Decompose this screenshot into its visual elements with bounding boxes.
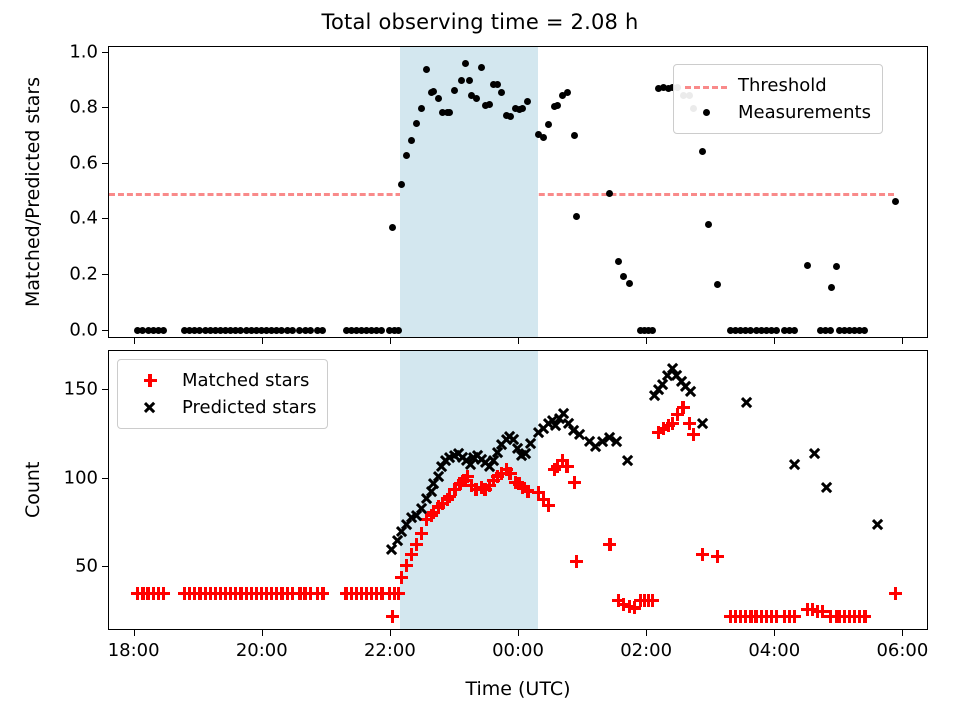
measurement-marker: [571, 132, 578, 139]
measurement-marker: [699, 148, 706, 155]
legend-label-matched-stars: Matched stars: [182, 370, 309, 391]
x-tick-mark: [390, 630, 391, 636]
matched-star-marker: [695, 547, 710, 562]
measurement-marker: [804, 262, 811, 269]
measurement-marker: [861, 327, 868, 334]
x-tick-label: 00:00: [492, 640, 544, 661]
matched-star-marker: [569, 554, 584, 569]
x-tick-mark: [518, 630, 519, 636]
predicted-star-marker: [609, 434, 624, 449]
predicted-star-marker: [695, 416, 710, 431]
x-tick-mark: [134, 338, 135, 344]
measurement-marker: [606, 190, 613, 197]
matched-star-marker: [567, 475, 582, 490]
top-panel-y-axis-label: Matched/Predicted stars: [22, 77, 44, 307]
measurement-marker: [408, 137, 415, 144]
y-tick-mark: [102, 107, 108, 108]
matched-star-marker: [315, 586, 330, 601]
y-tick-mark: [102, 478, 108, 479]
measurement-marker: [620, 273, 627, 280]
y-tick-mark: [102, 52, 108, 53]
y-tick-label: 0.2: [40, 264, 98, 285]
matched-star-marker: [645, 593, 660, 608]
predicted-star-marker: [683, 384, 698, 399]
legend-label-measurements: Measurements: [738, 102, 871, 123]
y-tick-mark: [102, 274, 108, 275]
measurement-marker: [540, 134, 547, 141]
legend-item-predicted-stars[interactable]: Predicted stars: [127, 394, 316, 421]
measurement-marker: [507, 113, 514, 120]
measurement-marker: [473, 95, 480, 102]
legend-item-measurements[interactable]: Measurements: [683, 99, 871, 126]
measurement-marker: [564, 89, 571, 96]
x-tick-label: 02:00: [620, 640, 672, 661]
measurement-marker: [649, 327, 656, 334]
measurement-dot-icon: [683, 102, 729, 124]
matched-star-marker: [560, 459, 575, 474]
plus-marker-icon: [127, 370, 173, 392]
measurement-marker: [435, 95, 442, 102]
x-tick-label: 20:00: [236, 640, 288, 661]
y-tick-mark: [102, 163, 108, 164]
matched-star-marker: [710, 549, 725, 564]
matched-star-marker: [391, 586, 406, 601]
y-tick-mark: [102, 389, 108, 390]
y-tick-label: 0.4: [40, 208, 98, 229]
x-tick-mark: [774, 630, 775, 636]
measurement-marker: [289, 327, 296, 334]
measurement-marker: [791, 327, 798, 334]
measurement-marker: [828, 284, 835, 291]
measurement-marker: [466, 77, 473, 84]
matched-star-marker: [385, 609, 400, 624]
x-tick-mark: [902, 630, 903, 636]
measurement-marker: [573, 213, 580, 220]
top-panel-legend[interactable]: Threshold Measurements: [673, 64, 883, 134]
measurement-marker: [160, 327, 167, 334]
predicted-star-marker: [870, 517, 885, 532]
y-tick-label: 0.6: [40, 152, 98, 173]
matched-star-marker: [888, 586, 903, 601]
x-tick-label: 18:00: [108, 640, 160, 661]
measurement-marker: [773, 327, 780, 334]
figure-root: Total observing time = 2.08 h 0.00.20.40…: [0, 0, 960, 720]
y-tick-mark: [102, 566, 108, 567]
x-tick-label: 06:00: [876, 640, 928, 661]
measurement-marker: [494, 81, 501, 88]
measurement-marker: [827, 327, 834, 334]
predicted-star-marker: [739, 395, 754, 410]
measurement-marker: [545, 121, 552, 128]
x-tick-mark: [518, 338, 519, 344]
legend-label-predicted-stars: Predicted stars: [182, 397, 316, 418]
measurement-marker: [519, 105, 526, 112]
page-title: Total observing time = 2.08 h: [0, 10, 960, 34]
y-tick-label: 50: [40, 556, 98, 577]
measurement-marker: [705, 221, 712, 228]
matched-star-marker: [541, 498, 556, 513]
legend-label-threshold: Threshold: [738, 75, 827, 96]
x-tick-mark: [390, 338, 391, 344]
y-tick-label: 150: [40, 378, 98, 399]
x-tick-mark: [262, 630, 263, 636]
x-tick-mark: [134, 630, 135, 636]
matched-star-marker: [414, 526, 429, 541]
measurement-marker: [413, 120, 420, 127]
predicted-star-marker: [819, 480, 834, 495]
predicted-star-marker: [620, 453, 635, 468]
measurement-marker: [378, 327, 385, 334]
bottom-panel-legend[interactable]: Matched stars Predicted stars: [117, 359, 328, 429]
matched-star-marker: [602, 537, 617, 552]
measurement-marker: [892, 198, 899, 205]
measurement-marker: [423, 66, 430, 73]
x-tick-mark: [262, 338, 263, 344]
matched-star-marker: [857, 609, 872, 624]
measurement-marker: [418, 105, 425, 112]
x-tick-label: 22:00: [364, 640, 416, 661]
measurement-marker: [833, 263, 840, 270]
matched-star-marker: [156, 586, 171, 601]
measurement-marker: [389, 224, 396, 231]
predicted-star-marker: [787, 457, 802, 472]
y-tick-mark: [102, 330, 108, 331]
measurement-marker: [626, 280, 633, 287]
x-tick-label: 04:00: [748, 640, 800, 661]
measurement-marker: [714, 281, 721, 288]
y-tick-label: 1.0: [40, 41, 98, 62]
measurement-marker: [615, 258, 622, 265]
measurement-marker: [554, 102, 561, 109]
measurement-marker: [319, 327, 326, 334]
x-tick-mark: [774, 338, 775, 344]
measurement-marker: [307, 327, 314, 334]
legend-item-matched-stars[interactable]: Matched stars: [127, 367, 316, 394]
measurement-marker: [403, 152, 410, 159]
y-tick-mark: [102, 218, 108, 219]
x-tick-mark: [646, 338, 647, 344]
measurement-marker: [458, 77, 465, 84]
x-tick-mark: [902, 338, 903, 344]
bottom-panel-y-axis-label: Count: [22, 462, 44, 518]
x-tick-mark: [646, 630, 647, 636]
y-tick-label: 0.8: [40, 97, 98, 118]
y-tick-label: 0.0: [40, 319, 98, 340]
threshold-dashed-line-icon: [683, 75, 729, 97]
cross-marker-icon: [127, 397, 173, 419]
y-tick-label: 100: [40, 467, 98, 488]
legend-item-threshold[interactable]: Threshold: [683, 72, 871, 99]
shaded-interval: [400, 47, 538, 337]
measurement-marker: [486, 101, 493, 108]
predicted-star-marker: [807, 446, 822, 461]
x-axis-label: Time (UTC): [108, 678, 928, 700]
matched-star-marker: [676, 400, 691, 415]
